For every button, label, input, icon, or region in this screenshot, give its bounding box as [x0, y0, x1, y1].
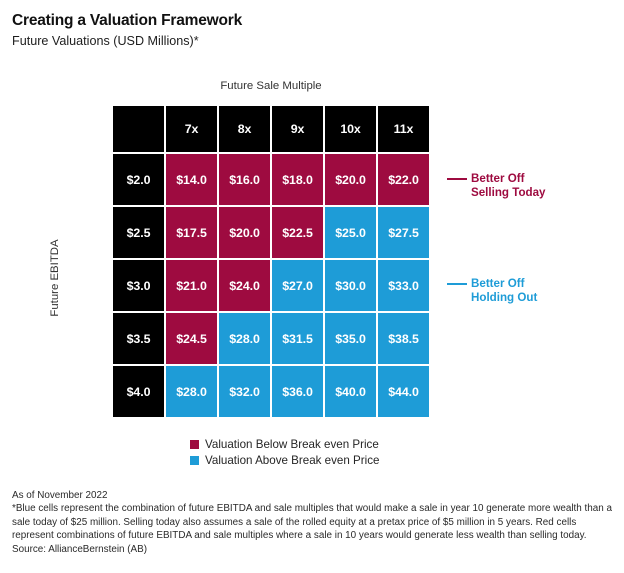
heatmap-cell: $28.0	[165, 365, 218, 418]
y-axis-title: Future EBITDA	[49, 218, 61, 338]
callout-selling-today: Better Off Selling Today	[471, 172, 546, 200]
legend-item: Valuation Below Break even Price	[190, 437, 379, 451]
heatmap-cell: $32.0	[218, 365, 271, 418]
legend-item: Valuation Above Break even Price	[190, 453, 379, 467]
heatmap-corner-cell	[112, 105, 165, 153]
heatmap-cell: $27.5	[377, 206, 430, 259]
callout-holding-out: Better Off Holding Out	[471, 277, 537, 305]
column-header-10x: 10x	[324, 105, 377, 153]
callout-holding-line1: Better Off	[471, 277, 537, 291]
x-axis-title: Future Sale Multiple	[112, 80, 430, 92]
heatmap-cell: $22.0	[377, 153, 430, 206]
heatmap-cell: $21.0	[165, 259, 218, 312]
heatmap-cell: $24.0	[218, 259, 271, 312]
heatmap-cell: $33.0	[377, 259, 430, 312]
heatmap-cell: $17.5	[165, 206, 218, 259]
row-header-$3.5: $3.5	[112, 312, 165, 365]
heatmap-cell: $38.5	[377, 312, 430, 365]
row-header-$2.0: $2.0	[112, 153, 165, 206]
column-header-7x: 7x	[165, 105, 218, 153]
footnotes: As of November 2022 *Blue cells represen…	[12, 489, 612, 556]
heatmap-cell: $14.0	[165, 153, 218, 206]
heatmap-cell: $27.0	[271, 259, 324, 312]
heatmap-cell: $24.5	[165, 312, 218, 365]
heatmap-cell: $16.0	[218, 153, 271, 206]
row-header-$2.5: $2.5	[112, 206, 165, 259]
heatmap-cell: $28.0	[218, 312, 271, 365]
footnote-as-of: As of November 2022	[12, 489, 612, 502]
leader-line-holding	[447, 283, 467, 285]
heatmap-cell: $36.0	[271, 365, 324, 418]
legend-swatch-icon	[190, 440, 199, 449]
heatmap-row: $2.5$17.5$20.0$22.5$25.0$27.5	[112, 206, 430, 259]
heatmap-cell: $25.0	[324, 206, 377, 259]
row-header-$4.0: $4.0	[112, 365, 165, 418]
heatmap-row: $2.0$14.0$16.0$18.0$20.0$22.0	[112, 153, 430, 206]
footnote-source: Source: AllianceBernstein (AB)	[12, 543, 612, 556]
legend-swatch-icon	[190, 456, 199, 465]
row-header-$3.0: $3.0	[112, 259, 165, 312]
callout-holding-line2: Holding Out	[471, 291, 537, 305]
callout-selling-line2: Selling Today	[471, 186, 546, 200]
footnote-note: *Blue cells represent the combination of…	[12, 502, 612, 542]
heatmap-cell: $44.0	[377, 365, 430, 418]
page-title: Creating a Valuation Framework	[12, 11, 242, 30]
column-header-11x: 11x	[377, 105, 430, 153]
heatmap-cell: $18.0	[271, 153, 324, 206]
legend-label: Valuation Below Break even Price	[205, 438, 379, 451]
heatmap-cell: $40.0	[324, 365, 377, 418]
chart-legend: Valuation Below Break even PriceValuatio…	[190, 437, 379, 469]
heatmap-row: $3.5$24.5$28.0$31.5$35.0$38.5	[112, 312, 430, 365]
heatmap-cell: $31.5	[271, 312, 324, 365]
valuation-heatmap: 7x8x9x10x11x$2.0$14.0$16.0$18.0$20.0$22.…	[112, 105, 430, 418]
column-header-8x: 8x	[218, 105, 271, 153]
heatmap-row: $4.0$28.0$32.0$36.0$40.0$44.0	[112, 365, 430, 418]
chart-header: Creating a Valuation Framework Future Va…	[12, 11, 242, 50]
legend-label: Valuation Above Break even Price	[205, 454, 379, 467]
callout-selling-line1: Better Off	[471, 172, 546, 186]
heatmap-cell: $30.0	[324, 259, 377, 312]
heatmap-cell: $20.0	[324, 153, 377, 206]
heatmap-cell: $20.0	[218, 206, 271, 259]
chart-subtitle: Future Valuations (USD Millions)*	[12, 33, 242, 50]
heatmap-cell: $22.5	[271, 206, 324, 259]
heatmap-header-row: 7x8x9x10x11x	[112, 105, 430, 153]
heatmap-row: $3.0$21.0$24.0$27.0$30.0$33.0	[112, 259, 430, 312]
heatmap-cell: $35.0	[324, 312, 377, 365]
leader-line-selling	[447, 178, 467, 180]
column-header-9x: 9x	[271, 105, 324, 153]
